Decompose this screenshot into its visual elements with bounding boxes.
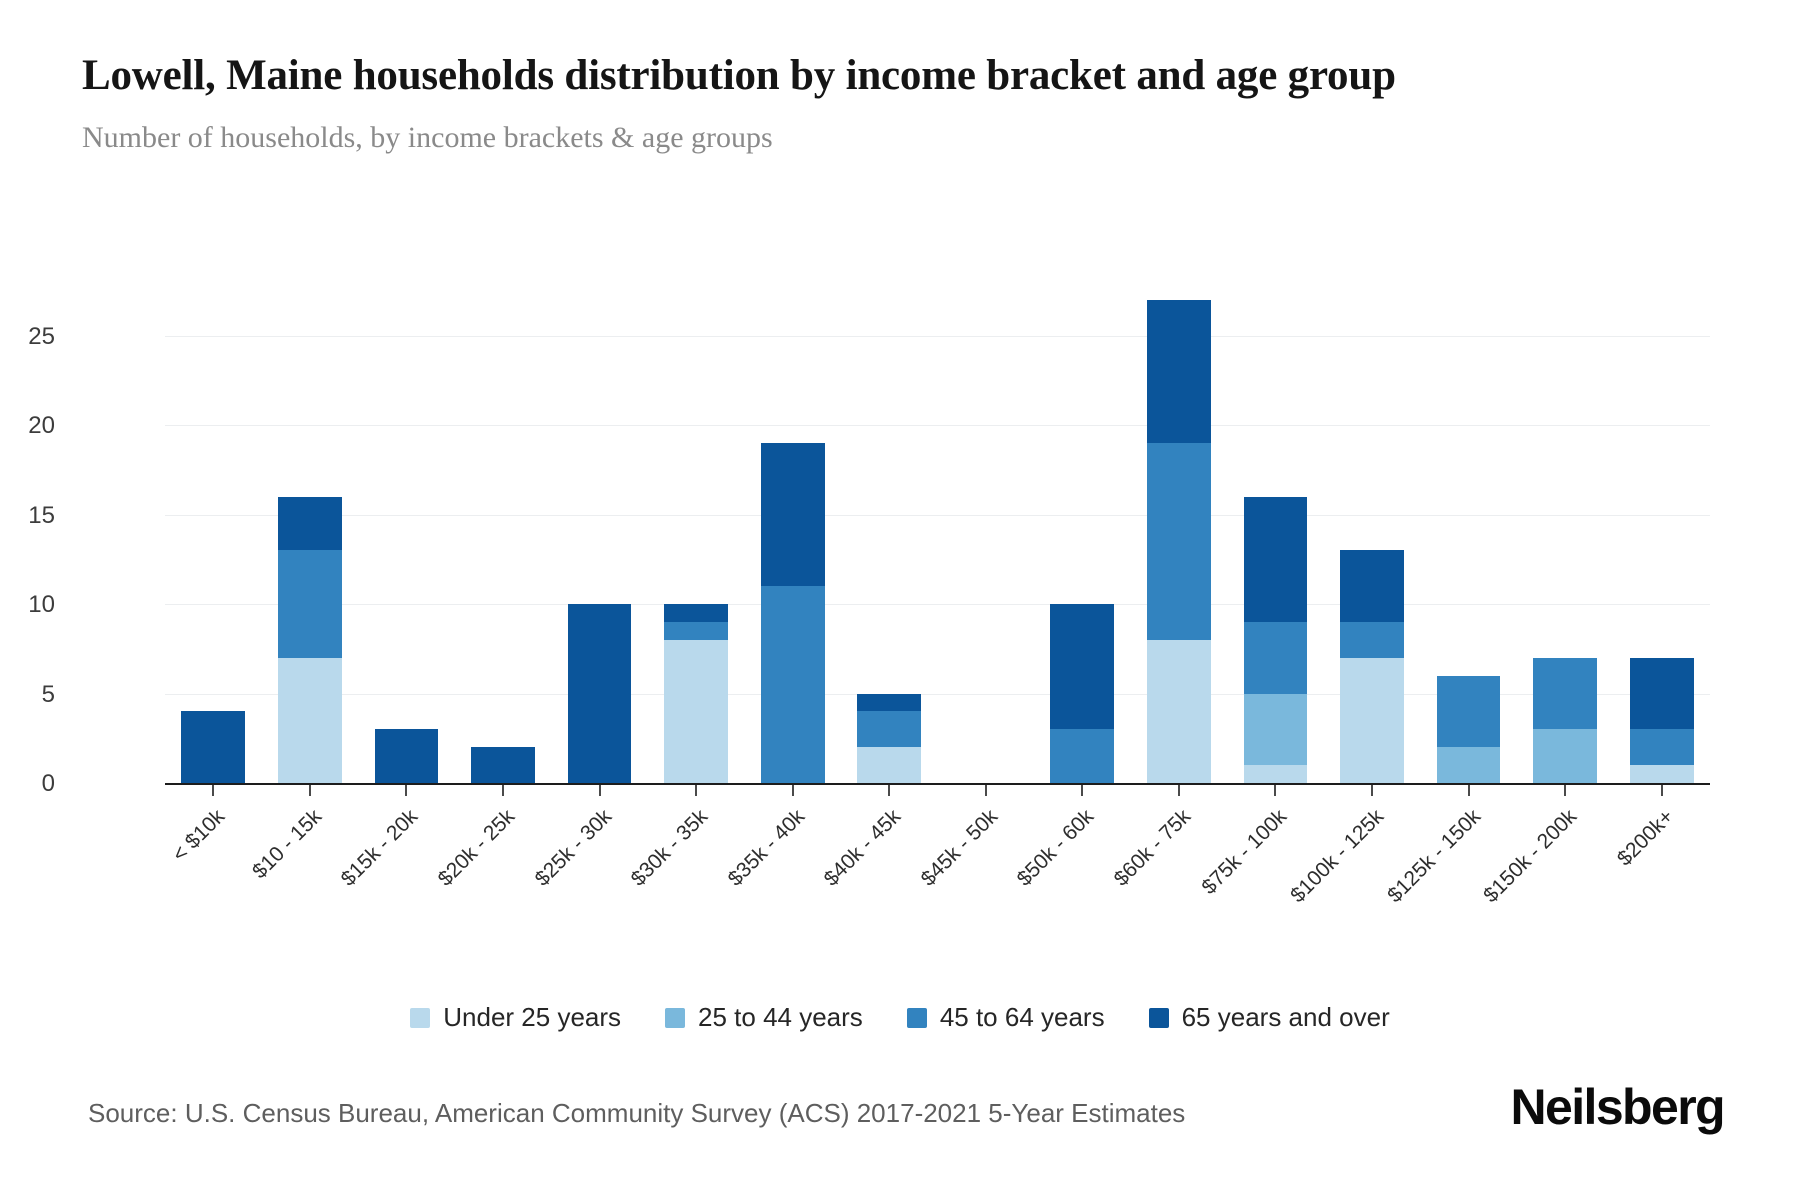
bar-segment[interactable] [1340, 622, 1404, 658]
x-axis-tick-marks [165, 785, 1710, 799]
bar-segment[interactable] [568, 604, 632, 783]
x-tick-cell [551, 785, 648, 799]
bar-segment[interactable] [664, 640, 728, 783]
bar-segment[interactable] [1147, 443, 1211, 640]
x-tick-mark [1274, 785, 1276, 796]
bar-stack[interactable] [761, 443, 825, 783]
x-label-cell: $150k - 200k [1517, 801, 1614, 911]
legend-item[interactable]: 65 years and over [1149, 1002, 1390, 1033]
neilsberg-logo: Neilsberg [1511, 1078, 1724, 1136]
chart-plot-wrapper: 0510152025 < $10k$10 - 15k$15k - 20k$20k… [0, 255, 1800, 895]
bar-stack[interactable] [181, 711, 245, 783]
x-label-cell: $10 - 15k [262, 801, 359, 911]
bar-segment[interactable] [857, 694, 921, 712]
legend-swatch-icon [410, 1008, 430, 1028]
bar-stack[interactable] [471, 747, 535, 783]
legend-label: 25 to 44 years [698, 1002, 863, 1033]
legend-swatch-icon [665, 1008, 685, 1028]
bar-segment[interactable] [1340, 658, 1404, 783]
x-label-cell: $35k - 40k [744, 801, 841, 911]
bar-segment[interactable] [278, 497, 342, 551]
bar-segment[interactable] [1533, 729, 1597, 783]
page-title: Lowell, Maine households distribution by… [82, 48, 1582, 103]
bar-segment[interactable] [1437, 676, 1501, 748]
x-tick-mark [1371, 785, 1373, 796]
bar-column[interactable] [1613, 300, 1710, 783]
x-tick-cell [1324, 785, 1421, 799]
bar-column[interactable] [744, 300, 841, 783]
x-tick-cell [1517, 785, 1614, 799]
x-axis-tick-label: $200k+ [1613, 805, 1679, 871]
y-axis-tick-label: 10 [0, 591, 55, 619]
bar-stack[interactable] [375, 729, 439, 783]
bar-column[interactable] [551, 300, 648, 783]
bar-stack[interactable] [1437, 676, 1501, 783]
x-label-cell: $30k - 35k [648, 801, 745, 911]
bar-segment[interactable] [1630, 729, 1694, 765]
x-tick-cell [744, 785, 841, 799]
bar-column[interactable] [455, 300, 552, 783]
x-tick-mark [405, 785, 407, 796]
x-tick-cell [841, 785, 938, 799]
x-label-cell: < $10k [165, 801, 262, 911]
bar-segment[interactable] [664, 604, 728, 622]
legend-item[interactable]: 25 to 44 years [665, 1002, 863, 1033]
bar-stack[interactable] [1630, 658, 1694, 783]
bar-segment[interactable] [1630, 658, 1694, 730]
bar-stack[interactable] [664, 604, 728, 783]
x-axis-tick-labels: < $10k$10 - 15k$15k - 20k$20k - 25k$25k … [165, 801, 1710, 911]
x-label-cell: $25k - 30k [551, 801, 648, 911]
bar-segment[interactable] [278, 550, 342, 657]
x-tick-mark [1081, 785, 1083, 796]
y-axis-tick-label: 25 [0, 323, 55, 351]
x-tick-cell [455, 785, 552, 799]
bar-stack[interactable] [568, 604, 632, 783]
legend-item[interactable]: Under 25 years [410, 1002, 621, 1033]
x-tick-cell [262, 785, 359, 799]
bar-column[interactable] [1324, 300, 1421, 783]
bar-column[interactable] [648, 300, 745, 783]
bar-segment[interactable] [375, 729, 439, 783]
bar-segment[interactable] [1147, 300, 1211, 443]
legend-label: 65 years and over [1182, 1002, 1390, 1033]
legend-label: Under 25 years [443, 1002, 621, 1033]
bar-stack[interactable] [278, 497, 342, 783]
y-axis-tick-label: 0 [0, 770, 55, 798]
bar-stack[interactable] [1340, 550, 1404, 783]
bar-segment[interactable] [278, 658, 342, 783]
bar-column[interactable] [262, 300, 359, 783]
bar-stack[interactable] [857, 694, 921, 783]
y-axis-tick-label: 15 [0, 502, 55, 530]
bar-column[interactable] [358, 300, 455, 783]
bar-stack[interactable] [1533, 658, 1597, 783]
chart-subtitle: Number of households, by income brackets… [82, 121, 1642, 155]
x-tick-mark [1178, 785, 1180, 796]
x-label-cell: $40k - 45k [841, 801, 938, 911]
bar-column[interactable] [938, 300, 1035, 783]
bar-column[interactable] [1034, 300, 1131, 783]
bar-segment[interactable] [181, 711, 245, 783]
x-tick-mark [985, 785, 987, 796]
legend-item[interactable]: 45 to 64 years [907, 1002, 1105, 1033]
bar-segment[interactable] [1244, 497, 1308, 622]
bar-segment[interactable] [1147, 640, 1211, 783]
x-tick-mark [1564, 785, 1566, 796]
x-tick-cell [1420, 785, 1517, 799]
bar-segment[interactable] [1533, 658, 1597, 730]
bar-segment[interactable] [857, 747, 921, 783]
x-tick-mark [792, 785, 794, 796]
y-axis-tick-label: 5 [0, 681, 55, 709]
x-tick-mark [695, 785, 697, 796]
x-tick-cell [938, 785, 1035, 799]
legend-swatch-icon [907, 1008, 927, 1028]
x-tick-cell [1131, 785, 1228, 799]
bar-column[interactable] [1131, 300, 1228, 783]
x-label-cell: $200k+ [1613, 801, 1710, 911]
source-note: Source: U.S. Census Bureau, American Com… [88, 1098, 1185, 1129]
x-tick-mark [309, 785, 311, 796]
x-tick-mark [1661, 785, 1663, 796]
x-tick-cell [165, 785, 262, 799]
bar-segment[interactable] [857, 711, 921, 747]
x-label-cell: $45k - 50k [938, 801, 1035, 911]
y-axis-tick-label: 20 [0, 412, 55, 440]
bar-segment[interactable] [761, 586, 825, 783]
x-axis-tick-label: < $10k [168, 805, 230, 867]
bar-stack[interactable] [1147, 300, 1211, 783]
bar-column[interactable] [1517, 300, 1614, 783]
bar-segment[interactable] [761, 443, 825, 586]
bar-column[interactable] [841, 300, 938, 783]
x-tick-cell [1034, 785, 1131, 799]
chart-footer: Source: U.S. Census Bureau, American Com… [0, 1090, 1800, 1160]
bar-column[interactable] [1420, 300, 1517, 783]
bar-segment[interactable] [1244, 622, 1308, 694]
x-tick-cell [358, 785, 455, 799]
bar-segment[interactable] [1244, 765, 1308, 783]
bar-segment[interactable] [1630, 765, 1694, 783]
bar-series-group [165, 300, 1710, 783]
bar-segment[interactable] [1340, 550, 1404, 622]
x-label-cell: $20k - 25k [455, 801, 552, 911]
x-tick-mark [212, 785, 214, 796]
x-label-cell: $15k - 20k [358, 801, 455, 911]
chart-header: Lowell, Maine households distribution by… [82, 48, 1642, 155]
bar-stack[interactable] [1244, 497, 1308, 783]
legend-label: 45 to 64 years [940, 1002, 1105, 1033]
x-label-cell: $50k - 60k [1034, 801, 1131, 911]
bar-column[interactable] [165, 300, 262, 783]
bar-segment[interactable] [1050, 729, 1114, 783]
bar-segment[interactable] [664, 622, 728, 640]
legend-swatch-icon [1149, 1008, 1169, 1028]
x-tick-mark [888, 785, 890, 796]
chart-legend: Under 25 years25 to 44 years45 to 64 yea… [0, 1002, 1800, 1033]
x-tick-cell [1613, 785, 1710, 799]
bar-segment[interactable] [1244, 694, 1308, 766]
x-tick-mark [502, 785, 504, 796]
x-tick-cell [1227, 785, 1324, 799]
x-tick-cell [648, 785, 745, 799]
bar-stack[interactable] [1050, 604, 1114, 783]
x-tick-mark [1468, 785, 1470, 796]
bar-segment[interactable] [471, 747, 535, 783]
bar-segment[interactable] [1050, 604, 1114, 729]
bar-segment[interactable] [1437, 747, 1501, 783]
bar-column[interactable] [1227, 300, 1324, 783]
x-tick-mark [599, 785, 601, 796]
